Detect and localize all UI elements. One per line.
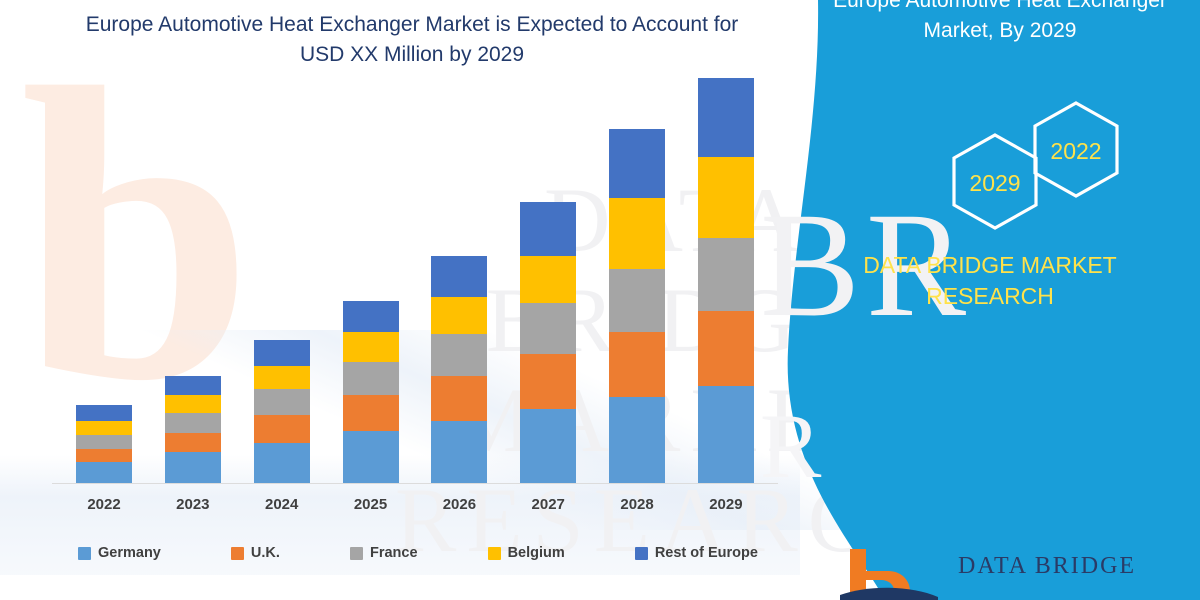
bar-column-2024[interactable] — [238, 90, 326, 484]
legend-label-france: France — [370, 545, 418, 561]
bar-segment-belgium[interactable] — [165, 395, 221, 413]
bar-segment-germany[interactable] — [254, 443, 310, 484]
bar-segment-germany[interactable] — [165, 452, 221, 484]
hexagon-pair: 2029 2022 — [890, 95, 1180, 240]
legend-swatch-u-k — [231, 547, 244, 560]
stacked-bar[interactable] — [431, 255, 487, 484]
stacked-bar[interactable] — [165, 376, 221, 484]
bar-segment-france[interactable] — [165, 413, 221, 433]
bar-segment-france[interactable] — [343, 362, 399, 395]
x-axis-line — [52, 483, 778, 484]
hexagon-year-2029: 2029 — [954, 170, 1036, 197]
bar-segment-rest-of-europe[interactable] — [254, 340, 310, 366]
bar-column-2022[interactable] — [60, 90, 148, 484]
bar-segment-u-k[interactable] — [343, 395, 399, 430]
bar-segment-u-k[interactable] — [165, 433, 221, 453]
legend-item-u-k[interactable]: U.K. — [231, 545, 280, 561]
bar-segment-rest-of-europe[interactable] — [165, 376, 221, 396]
legend-swatch-belgium — [488, 547, 501, 560]
page-title: Europe Automotive Heat Exchanger Market … — [62, 10, 762, 70]
bar-segment-france[interactable] — [76, 435, 132, 449]
legend-item-belgium[interactable]: Belgium — [488, 545, 565, 561]
legend-item-france[interactable]: France — [350, 545, 418, 561]
legend-item-germany[interactable]: Germany — [78, 545, 161, 561]
bar-segment-belgium[interactable] — [343, 332, 399, 362]
bar-segment-germany[interactable] — [698, 386, 754, 485]
legend-label-u-k: U.K. — [251, 545, 280, 561]
bar-segment-u-k[interactable] — [520, 354, 576, 409]
bar-column-2027[interactable] — [504, 90, 592, 484]
bar-segment-france[interactable] — [254, 389, 310, 415]
bar-segment-u-k[interactable] — [76, 449, 132, 463]
bar-segment-germany[interactable] — [431, 421, 487, 484]
stacked-bar[interactable] — [609, 129, 665, 484]
legend-item-rest-of-europe[interactable]: Rest of Europe — [635, 545, 758, 561]
x-axis-label-2029: 2029 — [682, 492, 770, 522]
panel-title: Europe Automotive Heat Exchanger Market,… — [800, 0, 1200, 46]
bar-segment-u-k[interactable] — [431, 376, 487, 421]
legend-label-belgium: Belgium — [508, 545, 565, 561]
dbmr-logo: DATA BRIDGE — [838, 545, 1198, 600]
bar-segment-france[interactable] — [520, 303, 576, 354]
legend-label-germany: Germany — [98, 545, 161, 561]
chart-legend: GermanyU.K.FranceBelgiumRest of Europe — [78, 540, 758, 566]
bar-segment-belgium[interactable] — [609, 198, 665, 269]
bar-segment-rest-of-europe[interactable] — [520, 202, 576, 255]
bar-segment-rest-of-europe[interactable] — [431, 256, 487, 297]
bar-segment-belgium[interactable] — [254, 366, 310, 390]
stacked-bar[interactable] — [254, 340, 310, 484]
brand-line-2: RESEARCH — [780, 281, 1200, 312]
x-axis-label-2022: 2022 — [60, 492, 148, 522]
chart-plot-area — [60, 90, 770, 484]
infographic-canvas: b DATA BRIDGE MARKET RESEARCH Europe Aut… — [0, 0, 1200, 600]
bar-column-2029[interactable] — [682, 90, 770, 484]
bar-column-2028[interactable] — [593, 90, 681, 484]
stacked-bar[interactable] — [76, 405, 132, 484]
x-axis-label-2026: 2026 — [415, 492, 503, 522]
bar-column-2023[interactable] — [149, 90, 237, 484]
bar-segment-france[interactable] — [431, 334, 487, 375]
bar-segment-u-k[interactable] — [254, 415, 310, 443]
stacked-bar[interactable] — [520, 202, 576, 484]
bar-segment-belgium[interactable] — [698, 157, 754, 238]
bar-segment-rest-of-europe[interactable] — [343, 301, 399, 333]
bar-segment-belgium[interactable] — [520, 256, 576, 303]
bar-segment-france[interactable] — [698, 238, 754, 311]
x-axis-label-2025: 2025 — [327, 492, 415, 522]
hexagon-year-2022: 2022 — [1035, 138, 1117, 165]
legend-swatch-rest-of-europe — [635, 547, 648, 560]
legend-swatch-france — [350, 547, 363, 560]
bar-segment-belgium[interactable] — [431, 297, 487, 334]
x-axis-label-2024: 2024 — [238, 492, 326, 522]
x-axis-label-2023: 2023 — [149, 492, 237, 522]
bar-segment-rest-of-europe[interactable] — [609, 129, 665, 198]
bar-column-2026[interactable] — [415, 90, 503, 484]
brand-line-1: DATA BRIDGE MARKET — [780, 250, 1200, 281]
x-axis-label-2027: 2027 — [504, 492, 592, 522]
legend-swatch-germany — [78, 547, 91, 560]
bar-segment-rest-of-europe[interactable] — [698, 78, 754, 157]
x-axis-label-2028: 2028 — [593, 492, 681, 522]
x-axis-labels: 20222023202420252026202720282029 — [60, 492, 770, 522]
bar-segment-germany[interactable] — [343, 431, 399, 484]
bar-segment-u-k[interactable] — [609, 332, 665, 397]
bar-segment-germany[interactable] — [76, 462, 132, 484]
bar-segment-germany[interactable] — [520, 409, 576, 484]
brand-name: DATA BRIDGE MARKET RESEARCH — [780, 250, 1200, 312]
stacked-bar[interactable] — [698, 78, 754, 484]
bar-segment-rest-of-europe[interactable] — [76, 405, 132, 421]
brand-panel: BR R Europe Automotive Heat Exchanger Ma… — [760, 0, 1200, 600]
legend-label-rest-of-europe: Rest of Europe — [655, 545, 758, 561]
bar-segment-u-k[interactable] — [698, 311, 754, 386]
dbmr-logo-text: DATA BRIDGE — [958, 553, 1136, 580]
stacked-bar-chart — [0, 90, 800, 490]
bar-segment-france[interactable] — [609, 269, 665, 332]
bar-column-2025[interactable] — [327, 90, 415, 484]
stacked-bar[interactable] — [343, 301, 399, 484]
bar-segment-belgium[interactable] — [76, 421, 132, 435]
bar-segment-germany[interactable] — [609, 397, 665, 484]
